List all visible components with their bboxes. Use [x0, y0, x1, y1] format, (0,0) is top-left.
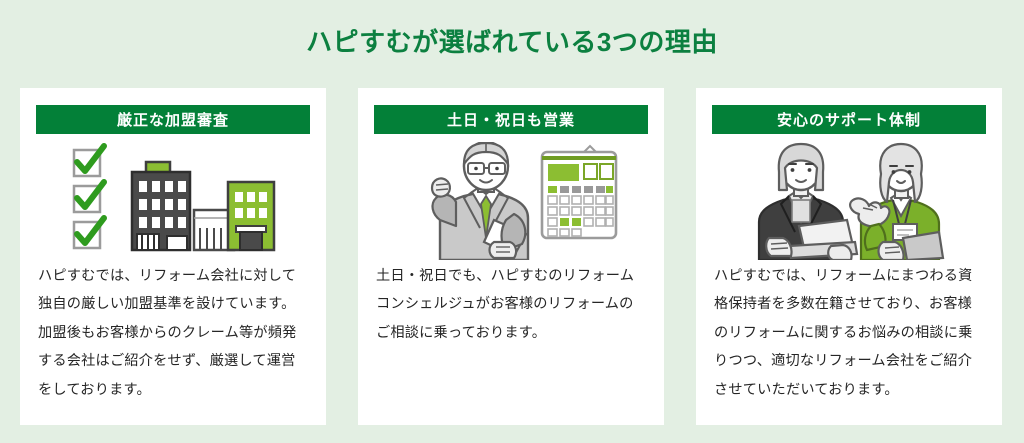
reason-card-2-header: 土日・祝日も営業 — [374, 105, 648, 134]
reason-card-3-body: ハピすむでは、リフォームにまつわる資格保持者を多数在籍させており、お客様のリフォ… — [712, 262, 986, 404]
page-title: ハピすむが選ばれている3つの理由 — [0, 26, 1024, 60]
reason-card-2-body: 土日・祝日でも、ハピすむのリフォームコンシェルジュがお客様のリフォームのご相談に… — [374, 262, 648, 347]
reason-card-1: 厳正な加盟審査 — [20, 88, 326, 425]
reason-card-3-header: 安心のサポート体制 — [712, 105, 986, 134]
checklist-and-buildings-icon — [68, 142, 278, 260]
reason-cards-row: 厳正な加盟審査 — [20, 88, 1004, 425]
reason-card-3-figure — [712, 134, 986, 262]
reason-card-1-body: ハピすむでは、リフォーム会社に対して独自の厳しい加盟基準を設けています。加盟後も… — [36, 262, 310, 404]
reason-card-2: 土日・祝日も営業 — [358, 88, 664, 425]
reason-card-3: 安心のサポート体制 — [696, 88, 1002, 425]
reason-card-2-figure — [374, 134, 648, 262]
reason-card-1-figure — [36, 134, 310, 262]
reason-card-1-header: 厳正な加盟審査 — [36, 105, 310, 134]
businessman-and-calendar-icon — [402, 142, 620, 260]
three-reasons-section: ハピすむが選ばれている3つの理由 厳正な加盟審査 — [0, 0, 1024, 443]
two-support-staff-icon — [743, 142, 955, 260]
